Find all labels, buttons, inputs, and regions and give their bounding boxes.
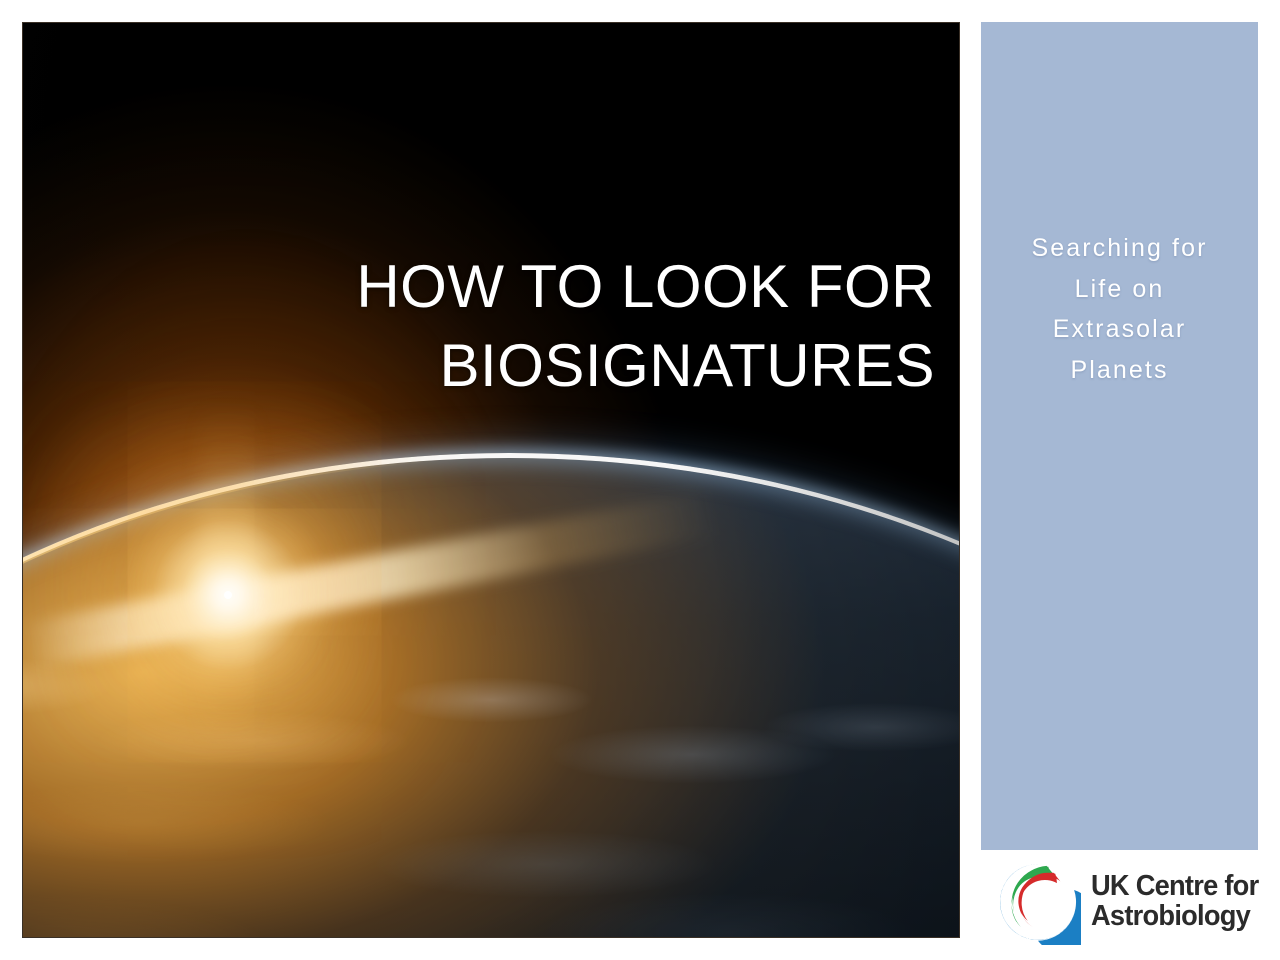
title-slide: How to look for Biosignatures Searching … xyxy=(0,0,1280,960)
logo-text-line-1: UK Centre for xyxy=(1091,872,1258,902)
subtitle-panel: Searching for Life on Extrasolar Planets xyxy=(981,22,1258,850)
sun-core xyxy=(224,591,232,599)
hero-space-image: How to look for Biosignatures xyxy=(22,22,960,938)
slide-title-line-2: Biosignatures xyxy=(440,332,935,399)
slide-subtitle-line-1: Searching for xyxy=(1032,234,1208,262)
uk-centre-for-astrobiology-logo: UK Centre for Astrobiology xyxy=(995,856,1260,948)
slide-subtitle-line-4: Planets xyxy=(1070,356,1168,384)
slide-subtitle: Searching for Life on Extrasolar Planets xyxy=(995,228,1244,390)
slide-title: How to look for Biosignatures xyxy=(295,247,935,405)
slide-title-line-1: How to look for xyxy=(356,253,935,320)
logo-wordmark: UK Centre for Astrobiology xyxy=(1091,872,1258,931)
slide-subtitle-line-3: Extrasolar xyxy=(1053,315,1187,343)
astrobiology-swirl-icon xyxy=(995,859,1081,945)
logo-text-line-2: Astrobiology xyxy=(1091,902,1258,932)
slide-subtitle-line-2: Life on xyxy=(1075,275,1165,303)
